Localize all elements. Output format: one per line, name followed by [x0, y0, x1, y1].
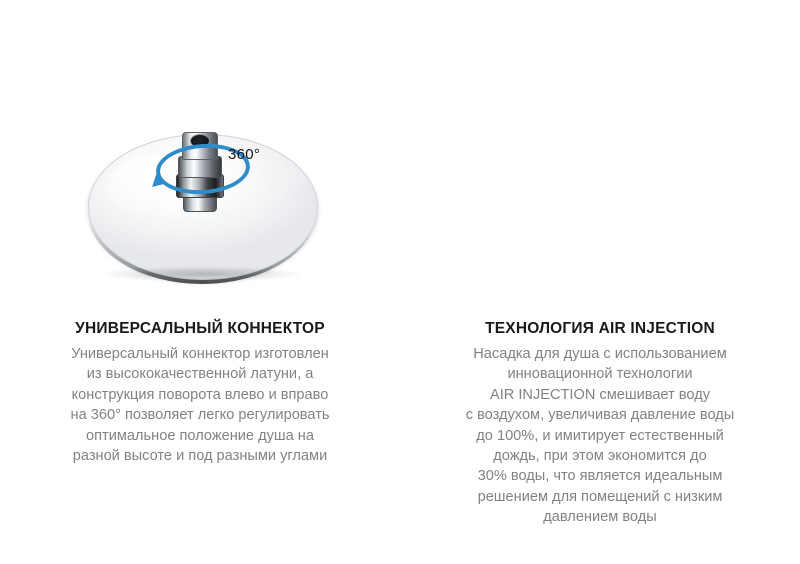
left-body-text: Универсальный коннектор изготовлен из вы… [0, 344, 400, 466]
right-body-text: Насадка для душа с использованием иннова… [400, 344, 800, 528]
universal-connector-illustration: 360° [88, 128, 320, 290]
disc-shadow [102, 266, 302, 282]
right-feature-panel: ВОЗДУХ ВОЗДУХ [400, 0, 800, 564]
left-heading: УНИВЕРСАЛЬНЫЙ КОННЕКТОР [0, 320, 400, 338]
right-heading: ТЕХНОЛОГИЯ AIR INJECTION [400, 320, 800, 338]
infographic-page: 360° УНИВЕРСАЛЬНЫЙ КОННЕКТОР Универсальн… [0, 0, 800, 564]
left-feature-panel: 360° УНИВЕРСАЛЬНЫЙ КОННЕКТОР Универсальн… [0, 0, 400, 564]
rotation-degree-label: 360° [228, 146, 260, 163]
